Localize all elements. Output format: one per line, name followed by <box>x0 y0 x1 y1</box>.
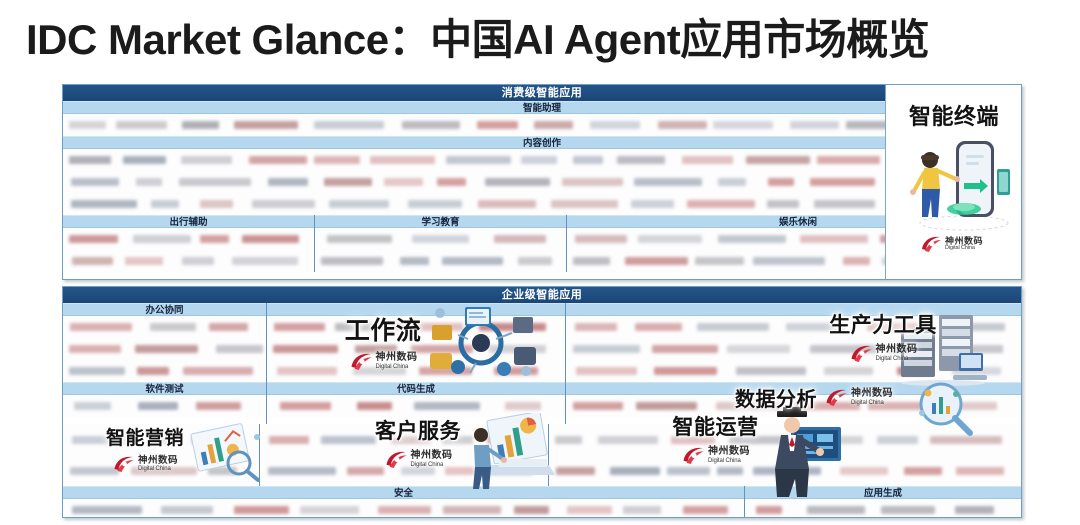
vendor-logo <box>280 402 331 410</box>
vendor-logo <box>400 257 429 265</box>
vendor-logo <box>877 436 918 444</box>
vendor-logo <box>74 402 111 410</box>
vendor-logo <box>314 121 384 129</box>
vendor-logo <box>810 345 877 353</box>
vendor-logo <box>638 235 702 243</box>
enterprise-columns-upper: 办公协同 软件测试 代码生成 <box>63 303 1021 424</box>
vendor-logo <box>814 200 875 208</box>
vendor-logo <box>69 121 106 129</box>
vendor-logo <box>208 467 237 475</box>
section-header-learning-education: 学习教育 <box>315 215 566 228</box>
vendor-logo <box>867 323 929 331</box>
vendor-logo <box>216 345 263 353</box>
vendor-logo <box>71 200 137 208</box>
consumer-band-title: 消费级智能应用 <box>63 85 1021 101</box>
section-header-productivity-top <box>566 303 1021 316</box>
vendor-logo <box>314 156 360 164</box>
vendor-logo <box>150 323 196 331</box>
vendor-logo <box>268 178 308 186</box>
vendor-logo <box>442 436 473 444</box>
vendor-logo <box>753 257 825 265</box>
vendor-logo <box>598 436 658 444</box>
vendor-logo <box>329 200 389 208</box>
vendor-logo <box>137 367 169 375</box>
logo-row <box>63 395 266 417</box>
vendor-logo <box>518 257 552 265</box>
logo-row <box>745 499 1021 518</box>
vendor-logo <box>445 467 474 475</box>
logo-row <box>63 114 1021 136</box>
vendor-logo <box>488 467 533 475</box>
vendor-logo <box>575 323 617 331</box>
consumer-panel: 消费级智能应用 智能助理 内容创作 出行辅助 学习教育 娱乐休闲 <box>62 84 1022 280</box>
enterprise-columns-lower <box>63 424 1021 486</box>
vendor-logo <box>242 235 299 243</box>
vendor-logo <box>133 235 191 243</box>
vendor-logo <box>335 323 375 331</box>
column-office-collaboration: 办公协同 软件测试 <box>63 303 266 424</box>
vendor-logo <box>897 367 927 375</box>
vendor-logo <box>232 257 298 265</box>
section-header-travel-assist: 出行辅助 <box>63 215 314 228</box>
vendor-logo <box>671 436 715 444</box>
logo-row <box>63 228 314 250</box>
vendor-logo <box>485 178 550 186</box>
vendor-logo <box>840 467 888 475</box>
vendor-logo <box>888 345 926 353</box>
vendor-logo <box>555 436 582 444</box>
vendor-logo <box>71 178 119 186</box>
logo-row <box>63 360 266 382</box>
vendor-logo <box>412 235 469 243</box>
vendor-logo <box>948 323 1005 331</box>
vendor-logo <box>69 345 121 353</box>
vendor-logo <box>575 235 627 243</box>
vendor-logo <box>446 156 511 164</box>
vendor-logo <box>807 506 865 514</box>
vendor-logo <box>391 436 431 444</box>
logo-row <box>566 395 1021 417</box>
logo-row <box>566 316 1021 338</box>
vendor-logo <box>355 345 397 353</box>
vendor-logo <box>277 367 337 375</box>
logo-row <box>260 455 548 486</box>
logo-row <box>63 171 1021 193</box>
vendor-logo <box>944 402 997 410</box>
vendor-logo <box>182 257 214 265</box>
vendor-logo <box>768 178 794 186</box>
column-travel-assist: 出行辅助 <box>63 215 314 272</box>
vendor-logo <box>687 200 755 208</box>
vendor-logo <box>196 402 241 410</box>
vendor-logo <box>631 200 674 208</box>
logo-row <box>315 228 566 250</box>
vendor-logo <box>300 506 359 514</box>
vendor-logo <box>945 345 1003 353</box>
vendor-logo <box>556 467 595 475</box>
vendor-logo <box>125 257 163 265</box>
section-header-smart-assistant: 智能助理 <box>63 101 1021 114</box>
logo-row <box>267 360 565 382</box>
vendor-logo <box>573 345 640 353</box>
section-header-app-generation: 应用生成 <box>745 486 1021 499</box>
vendor-logo <box>70 467 119 475</box>
vendor-logo <box>654 367 717 375</box>
vendor-logo <box>756 506 782 514</box>
vendor-logo <box>817 156 880 164</box>
vendor-logo <box>378 506 431 514</box>
vendor-logo <box>881 506 935 514</box>
vendor-logo <box>274 323 325 331</box>
callout-smart-terminal: 智能终端 <box>886 99 1022 131</box>
vendor-logo <box>843 257 870 265</box>
vendor-logo <box>414 402 480 410</box>
brand-name-en: Digital China <box>945 246 983 252</box>
market-glance-infographic: IDC Market Glance：中国AI Agent应用市场概览 消费级智能… <box>0 0 1080 525</box>
vendor-logo <box>824 367 873 375</box>
vendor-logo <box>437 178 466 186</box>
vendor-logo <box>72 506 142 514</box>
vendor-logo <box>268 467 336 475</box>
vendor-logo <box>70 323 132 331</box>
vendor-logo <box>69 156 111 164</box>
vendor-logo <box>384 178 423 186</box>
vendor-logo <box>521 156 557 164</box>
brand-logo-smart-terminal: 神州数码 Digital China <box>920 235 983 253</box>
vendor-logo <box>249 156 307 164</box>
vendor-logo <box>623 506 661 514</box>
vendor-logo <box>487 436 527 444</box>
vendor-logo <box>200 235 229 243</box>
vendor-logo <box>810 178 875 186</box>
vendor-logo <box>795 402 860 410</box>
vendor-logo <box>182 121 219 129</box>
vendor-logo <box>136 178 162 186</box>
brand-logo-text: 神州数码 Digital China <box>945 237 983 252</box>
vendor-logo <box>402 121 460 129</box>
vendor-logo <box>718 235 786 243</box>
logo-row <box>63 338 266 360</box>
vendor-logo <box>658 121 707 129</box>
vendor-logo <box>952 367 1001 375</box>
vendor-logo <box>138 402 178 410</box>
logo-row <box>549 455 1021 486</box>
page-title: IDC Market Glance：中国AI Agent应用市场概览 <box>26 14 1066 66</box>
vendor-logo <box>151 200 179 208</box>
logo-row <box>63 499 744 518</box>
vendor-logo <box>161 506 213 514</box>
column-learning-education: 学习教育 <box>314 215 566 272</box>
vendor-logo <box>562 178 623 186</box>
vendor-logo <box>790 121 839 129</box>
column-security: 安全 <box>63 486 744 518</box>
logo-row <box>260 424 548 455</box>
vendor-logo <box>152 436 179 444</box>
vendor-logo <box>179 178 251 186</box>
vendor-logo <box>786 323 844 331</box>
logo-row <box>267 338 565 360</box>
smart-terminal-block: 智能终端 <box>885 85 1021 280</box>
enterprise-panel: 企业级智能应用 办公协同 软件测试 代码生成 <box>62 286 1022 518</box>
vendor-logo <box>123 156 166 164</box>
vendor-logo <box>717 467 743 475</box>
vendor-logo <box>746 156 810 164</box>
section-header-content-creation: 内容创作 <box>63 136 1021 149</box>
vendor-logo <box>716 402 782 410</box>
logo-row <box>566 360 1021 382</box>
vendor-logo <box>116 121 167 129</box>
vendor-logo <box>494 367 538 375</box>
section-header-security: 安全 <box>63 486 744 499</box>
section-header-data-analysis-top <box>566 382 1021 395</box>
vendor-logo <box>209 323 248 331</box>
section-header-workflow-top <box>267 303 565 316</box>
callout-label: 智能终端 <box>909 99 999 131</box>
logo-row <box>549 424 1021 455</box>
column-smart-operations <box>548 424 1021 486</box>
vendor-logo <box>347 467 384 475</box>
vendor-logo <box>234 121 298 129</box>
vendor-logo <box>357 402 392 410</box>
vendor-logo <box>131 467 197 475</box>
vendor-logo <box>505 402 541 410</box>
vendor-logo <box>727 345 790 353</box>
vendor-logo <box>200 200 233 208</box>
vendor-logo <box>956 467 1004 475</box>
enterprise-bottom-bands: 安全 应用生成 <box>63 486 1021 518</box>
logo-row <box>63 424 259 455</box>
vendor-logo <box>489 345 546 353</box>
digital-china-mark-icon <box>920 235 942 253</box>
logo-row <box>63 250 314 272</box>
vendor-logo <box>321 436 376 444</box>
column-app-generation: 应用生成 <box>744 486 1021 518</box>
vendor-logo <box>183 367 253 375</box>
section-header-office-collaboration: 办公协同 <box>63 303 266 316</box>
logo-row <box>63 455 259 486</box>
vendor-logo <box>930 436 1002 444</box>
vendor-logo <box>370 156 435 164</box>
section-header-code-generation: 代码生成 <box>267 382 565 395</box>
vendor-logo <box>234 506 289 514</box>
vendor-logo <box>718 178 746 186</box>
vendor-logo <box>321 257 383 265</box>
vendor-logo <box>269 436 309 444</box>
logo-row <box>63 149 1021 171</box>
vendor-logo <box>683 506 728 514</box>
logo-row <box>63 193 1021 215</box>
vendor-logo <box>767 200 799 208</box>
vendor-logo <box>69 235 118 243</box>
vendor-logo <box>736 367 806 375</box>
vendor-logo <box>682 156 733 164</box>
vendor-logo <box>636 402 697 410</box>
vendor-logo <box>904 467 942 475</box>
vendor-logo <box>252 200 315 208</box>
enterprise-band-title: 企业级智能应用 <box>63 287 1021 303</box>
vendor-logo <box>812 436 863 444</box>
vendor-logo <box>408 200 462 208</box>
vendor-logo <box>392 323 463 331</box>
vendor-logo <box>551 200 618 208</box>
logo-row <box>267 395 565 417</box>
vendor-logo <box>610 467 660 475</box>
section-header-software-testing: 软件测试 <box>63 382 266 395</box>
vendor-logo <box>695 257 744 265</box>
vendor-logo <box>713 121 773 129</box>
vendor-logo <box>135 345 198 353</box>
vendor-logo <box>868 402 924 410</box>
vendor-logo <box>567 506 612 514</box>
vendor-logo <box>411 345 473 353</box>
vendor-logo <box>955 506 994 514</box>
vendor-logo <box>729 436 796 444</box>
vendor-logo <box>419 367 472 375</box>
vendor-logo <box>534 121 573 129</box>
vendor-logo <box>514 506 549 514</box>
vendor-logo <box>72 436 130 444</box>
vendor-logo <box>697 323 769 331</box>
vendor-logo <box>753 467 821 475</box>
column-smart-marketing <box>63 424 259 486</box>
vendor-logo <box>573 156 603 164</box>
logo-row <box>63 316 266 338</box>
vendor-logo <box>324 178 372 186</box>
smart-terminal-illustration <box>904 129 1020 233</box>
vendor-logo <box>478 200 536 208</box>
vendor-logo <box>667 467 710 475</box>
vendor-logo <box>69 367 125 375</box>
vendor-logo <box>625 257 688 265</box>
vendor-logo <box>477 121 518 129</box>
logo-row <box>315 250 566 272</box>
vendor-logo <box>573 257 610 265</box>
vendor-logo <box>479 323 546 331</box>
vendor-logo <box>353 367 406 375</box>
vendor-logo <box>573 402 623 410</box>
vendor-logo <box>634 178 702 186</box>
vendor-logo <box>494 235 546 243</box>
vendor-logo <box>192 436 242 444</box>
consumer-columns: 出行辅助 学习教育 娱乐休闲 <box>63 215 1021 272</box>
vendor-logo <box>273 345 338 353</box>
vendor-logo <box>181 156 232 164</box>
column-productivity-tools <box>565 303 1021 424</box>
vendor-logo <box>617 156 665 164</box>
column-customer-service <box>259 424 548 486</box>
vendor-logo <box>327 235 392 243</box>
vendor-logo <box>442 257 503 265</box>
vendor-logo <box>800 235 868 243</box>
vendor-logo <box>72 257 113 265</box>
vendor-logo <box>443 506 501 514</box>
vendor-logo <box>590 121 640 129</box>
logo-row <box>267 316 565 338</box>
vendor-logo <box>401 467 435 475</box>
column-workflow: 代码生成 <box>266 303 565 424</box>
vendor-logo <box>635 323 682 331</box>
vendor-logo <box>576 367 637 375</box>
logo-row <box>566 338 1021 360</box>
vendor-logo <box>652 345 718 353</box>
